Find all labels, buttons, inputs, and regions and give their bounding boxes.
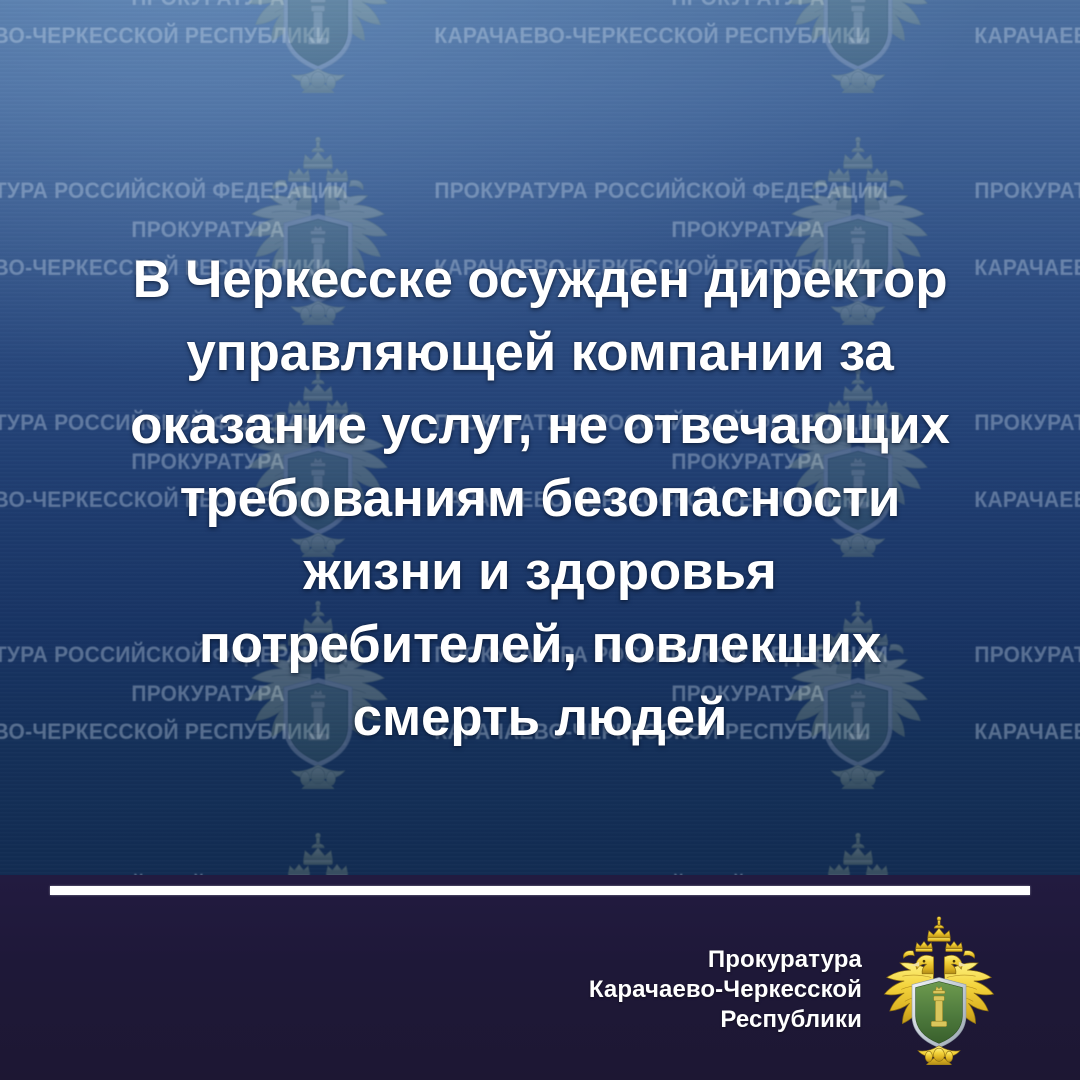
page-title: В Черкесске осужден директор управляющей… — [60, 243, 1020, 754]
poster-canvas: ПРОКУРАТУРА РОССИЙСКОЙ ФЕДЕРАЦИИПРОКУРАТ… — [0, 0, 1080, 1080]
watermark-tile: ПРОКУРАТУРА РОССИЙСКОЙ ФЕДЕРАЦИИПРОКУРАТ… — [0, 0, 190, 113]
footer-content: Прокуратура Карачаево-Черкесской Республ… — [0, 899, 1080, 1080]
russian-prosecutor-eagle-emblem-icon — [876, 915, 1002, 1065]
footer-bar: Прокуратура Карачаево-Черкесской Республ… — [0, 875, 1080, 1080]
russian-prosecutor-eagle-emblem-icon — [238, 0, 398, 93]
footer-organization-name: Прокуратура Карачаево-Черкесской Республ… — [589, 945, 862, 1035]
russian-prosecutor-eagle-emblem-icon — [778, 0, 938, 93]
footer-divider — [50, 886, 1030, 895]
watermark-tile: ПРОКУРАТУРА РОССИЙСКОЙ ФЕДЕРАЦИИПРОКУРАТ… — [730, 0, 1080, 113]
watermark-tile: ПРОКУРАТУРА РОССИЙСКОЙ ФЕДЕРАЦИИПРОКУРАТ… — [190, 0, 730, 113]
watermark-agency-text: ПРОКУРАТУРА РОССИЙСКОЙ ФЕДЕРАЦИИПРОКУРАТ… — [945, 0, 1080, 56]
watermark-row: ПРОКУРАТУРА РОССИЙСКОЙ ФЕДЕРАЦИИПРОКУРАТ… — [0, 0, 1080, 114]
